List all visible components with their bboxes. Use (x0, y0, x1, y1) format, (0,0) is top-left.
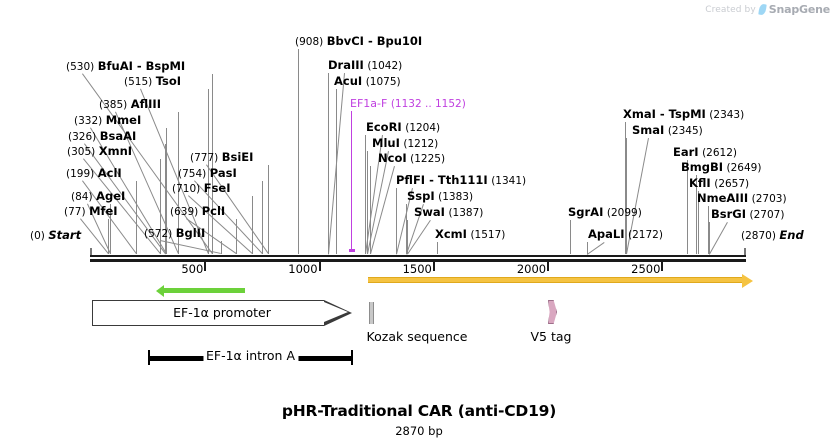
enzyme-position: (710) (172, 183, 200, 195)
primer-name: EF1a-F (350, 97, 387, 110)
ruler-tick-label: 2000 (517, 262, 547, 276)
enzyme-label-mfei[interactable]: (77) MfeI (64, 206, 118, 218)
enzyme-position: (1387) (448, 207, 483, 219)
leader-line (212, 74, 213, 254)
enzyme-name: TsoI (156, 74, 181, 88)
enzyme-label-pasi[interactable]: (754) PasI (178, 168, 237, 180)
enzyme-name: AclI (98, 166, 122, 180)
enzyme-name: MmeI (106, 113, 142, 127)
enzyme-position: (77) (64, 206, 86, 218)
enzyme-label-bsrgi[interactable]: BsrGI (2707) (711, 209, 784, 221)
enzyme-position: (84) (71, 191, 93, 203)
enzyme-label-kfli[interactable]: KflI (2657) (689, 178, 749, 190)
enzyme-name: AgeI (96, 189, 125, 203)
enzyme-position: (530) (66, 61, 94, 73)
ruler-start-cap (90, 248, 92, 255)
enzyme-name: DraIII (328, 58, 364, 72)
feature-label-v5-tag: V5 tag (531, 329, 572, 344)
enzyme-label-bfuai-bspmi[interactable]: (530) BfuAI - BspMI (66, 61, 185, 73)
leader-line (709, 222, 710, 254)
enzyme-position: (2099) (607, 207, 642, 219)
enzyme-name: AcuI (334, 74, 362, 88)
feature-label-kozak-sequence: Kozak sequence (367, 329, 468, 344)
enzyme-name: BmgBI (681, 160, 723, 174)
enzyme-position: (2345) (668, 125, 703, 137)
enzyme-name: NcoI (378, 151, 407, 165)
enzyme-position: (1204) (405, 122, 440, 134)
enzyme-label-mlui[interactable]: MluI (1212) (372, 138, 438, 150)
enzyme-name: MfeI (89, 204, 118, 218)
leader-line (396, 188, 397, 254)
feature-label: EF-1α promoter (92, 305, 352, 320)
primer-label-ef1a-f[interactable]: EF1a-F (1132 .. 1152) (350, 98, 466, 110)
enzyme-position: (754) (178, 168, 206, 180)
leader-line (252, 196, 253, 254)
enzyme-position: (2870) (741, 230, 776, 242)
ruler-tick-label: 1000 (288, 262, 318, 276)
enzyme-label-apali[interactable]: ApaLI (2172) (588, 229, 663, 241)
enzyme-label-mmei[interactable]: (332) MmeI (74, 115, 141, 127)
enzyme-name: SgrAI (568, 205, 603, 219)
enzyme-label-pcli[interactable]: (639) PclI (170, 206, 225, 218)
leader-line (328, 73, 329, 254)
enzyme-position: (2707) (750, 209, 785, 221)
enzyme-name: KflI (689, 176, 711, 190)
enzyme-label-tsoi[interactable]: (515) TsoI (124, 76, 181, 88)
ruler-tick (319, 262, 321, 271)
enzyme-label-bmgbi[interactable]: BmgBI (2649) (681, 162, 761, 174)
enzyme-position: (639) (170, 206, 198, 218)
watermark-brand: SnapGene (769, 3, 830, 16)
leader-line (365, 135, 366, 254)
enzyme-name: NmeAIII (697, 191, 748, 205)
enzyme-label-fsei[interactable]: (710) FseI (172, 183, 231, 195)
enzyme-label-xcmi[interactable]: XcmI (1517) (435, 229, 505, 241)
enzyme-position: (332) (74, 115, 102, 127)
leader-line (570, 220, 571, 254)
enzyme-label-sgrai[interactable]: SgrAI (2099) (568, 207, 642, 219)
enzyme-name: BglII (176, 226, 206, 240)
enzyme-position: (1042) (367, 60, 402, 72)
enzyme-name: SmaI (632, 123, 664, 137)
enzyme-position: (1212) (403, 138, 438, 150)
enzyme-name: XcmI (435, 227, 467, 241)
leader-line (298, 49, 299, 254)
enzyme-name: EarI (673, 145, 699, 159)
enzyme-name: PasI (210, 166, 237, 180)
enzyme-label-start[interactable]: (0) Start (30, 230, 81, 242)
enzyme-label-eari[interactable]: EarI (2612) (673, 147, 737, 159)
enzyme-position: (0) (30, 230, 45, 242)
enzyme-position: (2649) (727, 162, 762, 174)
enzyme-position: (908) (295, 36, 323, 48)
primer-binding-marker (349, 249, 355, 252)
enzyme-name: SspI (407, 189, 435, 203)
ruler-tick (433, 262, 435, 271)
enzyme-name: SwaI (414, 205, 445, 219)
feature-kozak-sequence[interactable] (369, 302, 374, 324)
enzyme-position: (1383) (438, 191, 473, 203)
enzyme-label-ecori[interactable]: EcoRI (1204) (366, 122, 440, 134)
enzyme-label-sspi[interactable]: SspI (1383) (407, 191, 473, 203)
leader-line (351, 111, 352, 252)
enzyme-label-nmeaiii[interactable]: NmeAIII (2703) (697, 193, 787, 205)
ruler-line-top (90, 255, 746, 257)
enzyme-position: (572) (144, 228, 172, 240)
enzyme-name: BfuAI - BspMI (98, 59, 185, 73)
plasmid-map-canvas: Created by SnapGene (0) Start(77) MfeI(8… (0, 0, 838, 446)
enzyme-name: XmnI (99, 144, 132, 158)
enzyme-label-bglii[interactable]: (572) BglII (144, 228, 205, 240)
enzyme-position: (385) (99, 99, 127, 111)
enzyme-label-ncoi[interactable]: NcoI (1225) (378, 153, 445, 165)
ruler-end-cap (744, 248, 746, 255)
orf-arrow[interactable] (368, 277, 743, 283)
enzyme-name: BsaAI (100, 129, 137, 143)
enzyme-label-xmni[interactable]: (305) XmnI (67, 146, 132, 158)
enzyme-position: (2657) (714, 178, 749, 190)
enzyme-name: AflIII (131, 97, 161, 111)
feature-ef-1-promoter[interactable]: EF-1α promoter (92, 300, 352, 326)
enzyme-name: BsrGI (711, 207, 746, 221)
enzyme-position: (1517) (470, 229, 505, 241)
enzyme-name: EcoRI (366, 120, 402, 134)
feature-v5-tag[interactable] (548, 300, 557, 324)
enzyme-label-xmai-tspmi[interactable]: XmaI - TspMI (2343) (623, 109, 744, 121)
leader-line (687, 160, 688, 254)
enzyme-name: BsiEI (222, 150, 254, 164)
primer-range: (1132 .. 1152) (391, 98, 466, 110)
ruler-tick-label: 1500 (403, 262, 433, 276)
watermark-created-by: Created by (705, 5, 756, 15)
enzyme-label-pflfi-tth111i[interactable]: PflFI - Tth111I (1341) (396, 175, 526, 187)
enzyme-position: (2703) (752, 193, 787, 205)
enzyme-label-swai[interactable]: SwaI (1387) (414, 207, 483, 219)
ruler-tick (204, 262, 206, 271)
snapgene-leaf-icon (758, 4, 766, 16)
enzyme-name: End (779, 228, 803, 242)
enzyme-label-smai[interactable]: SmaI (2345) (632, 125, 703, 137)
enzyme-position: (777) (190, 152, 218, 164)
leader-line (268, 165, 269, 254)
enzyme-position: (1341) (491, 175, 526, 187)
enzyme-name: Start (48, 228, 81, 242)
ruler-tick (547, 262, 549, 271)
enzyme-label-end[interactable]: (2870) End (741, 230, 804, 242)
enzyme-name: ApaLI (588, 227, 625, 241)
enzyme-label-acli[interactable]: (199) AclI (66, 168, 122, 180)
enzyme-position: (2612) (702, 147, 737, 159)
enzyme-name: PclI (202, 204, 225, 218)
enzyme-position: (2343) (709, 109, 744, 121)
leader-line (136, 181, 137, 254)
enzyme-position: (1225) (410, 153, 445, 165)
enzyme-label-bsaai[interactable]: (326) BsaAI (68, 131, 136, 143)
enzyme-name: PflFI - Tth111I (396, 173, 488, 187)
enzyme-label-agei[interactable]: (84) AgeI (71, 191, 125, 203)
enzyme-label-draiii[interactable]: DraIII (1042) (328, 60, 402, 72)
enzyme-label-acui[interactable]: AcuI (1075) (334, 76, 401, 88)
enzyme-position: (515) (124, 76, 152, 88)
leader-line (80, 218, 109, 254)
enzyme-label-afliii[interactable]: (385) AflIII (99, 99, 161, 111)
ruler-tick-label: 500 (181, 262, 204, 276)
enzyme-position: (326) (68, 131, 96, 143)
leader-line (587, 242, 605, 255)
enzyme-name: FseI (204, 181, 231, 195)
snapgene-watermark: Created by SnapGene (705, 3, 830, 16)
enzyme-name: MluI (372, 136, 400, 150)
feature-ef-1-intron-a[interactable]: EF-1α intron A (148, 350, 353, 368)
enzyme-name: XmaI - TspMI (623, 107, 706, 121)
page-title: pHR-Traditional CAR (anti-CD19) (0, 402, 838, 420)
enzyme-name: BbvCI - Bpu10I (327, 34, 422, 48)
enzyme-position: (2172) (628, 229, 663, 241)
enzyme-label-bsiei[interactable]: (777) BsiEI (190, 152, 253, 164)
enzyme-label-bbvci-bpu10i[interactable]: (908) BbvCI - Bpu10I (295, 36, 422, 48)
ruler-tick (661, 262, 663, 271)
leader-line (437, 242, 438, 254)
enzyme-position: (305) (67, 146, 95, 158)
plasmid-length: 2870 bp (0, 424, 838, 438)
enzyme-position: (1075) (366, 76, 401, 88)
leader-line (709, 222, 728, 254)
ruler-tick-label: 2500 (631, 262, 661, 276)
enzyme-position: (199) (66, 168, 94, 180)
feature-label: EF-1α intron A (203, 348, 298, 363)
green-feature-arrow[interactable] (163, 288, 245, 293)
